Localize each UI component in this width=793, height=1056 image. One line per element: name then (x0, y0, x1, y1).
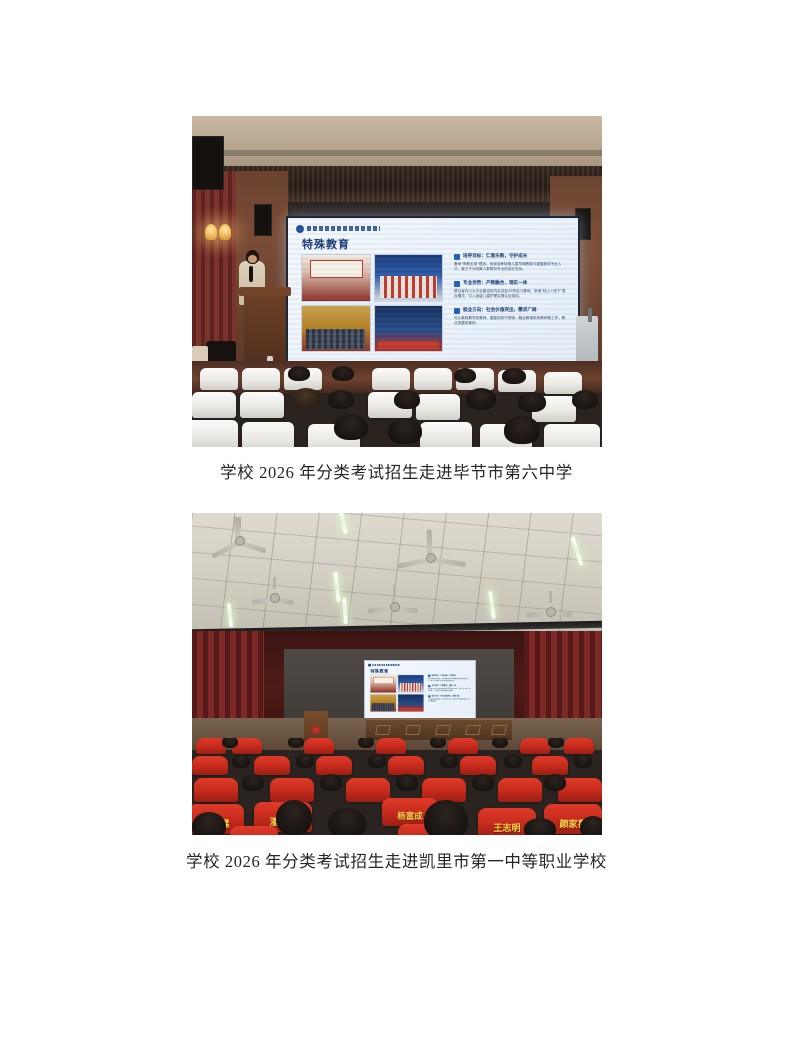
slide-special-education: 特殊教育 培养目标：仁爱乐教，守护成长 秉承" (288, 218, 578, 364)
slide-bullet: 培养目标：仁爱乐教，守护成长 秉承"有教无类"理念，系统培养特殊儿童早期教育与康… (428, 675, 471, 682)
document-page: 特殊教育 培养目标：仁爱乐教，守护成长 秉承" (0, 0, 793, 1056)
school-logo (296, 224, 380, 233)
table-panel (405, 725, 421, 735)
slide-bullet-body: 联合省内六大平台建设校内实训及25所实习基地，采用"线上+线下"混合模式，引入省… (428, 688, 471, 692)
table-panel (435, 725, 451, 735)
audience-head (232, 754, 250, 768)
seat (498, 778, 542, 802)
slide-photo-cell (374, 254, 444, 302)
table-panel (375, 725, 391, 735)
slide-bullet-list: 培养目标：仁爱乐教，守护成长 秉承"有教无类"理念，系统培养特殊儿童早期教育与康… (454, 254, 568, 334)
audience-head (334, 414, 368, 440)
slide-bullet: 专业优势：产教融合，理实一体 联合省内六大平台建设校内实训及25所实习基地，采用… (428, 685, 471, 692)
audience-head (524, 818, 556, 835)
person-icon (428, 695, 430, 697)
photo-kaili-first-vocational-school: 特殊教育 培养目标：仁爱乐教，守护成长 秉承"有教 (192, 513, 602, 835)
slide-bullet-heading-row: 就业方向：社会价值突出，需求广阔 (454, 308, 568, 314)
slide-photo-cell (301, 254, 371, 302)
slide-photo-cell (397, 694, 423, 712)
seat (194, 778, 238, 802)
audience-head (320, 774, 342, 791)
figure-2-caption: 学校 2026 年分类考试招生走进凯里市第一中等职业学校 (0, 848, 793, 872)
seat (242, 368, 280, 390)
microphone-icon (249, 266, 253, 282)
audience-head (504, 416, 540, 444)
seat (254, 756, 290, 775)
presentation-screen: 特殊教育 培养目标：仁爱乐教，守护成长 秉承" (286, 216, 580, 366)
audience-head (466, 388, 496, 410)
seat (564, 738, 594, 754)
slide-photo-cell (301, 305, 371, 353)
ceiling-fan (392, 543, 468, 571)
logo-badge-icon (368, 663, 371, 666)
seat (304, 738, 334, 754)
wall-sconce-left (205, 224, 217, 240)
presenter-face (248, 255, 257, 263)
slide-bullet-body: 秉承"有教无类"理念，系统培养特殊儿童早期教育与康复服务专业人才，致力于为特殊人… (454, 262, 568, 273)
slide-bullet: 就业方向：社会价值突出，需求广阔 可从事特教学校教师、康复机构干预师、融合教育机… (454, 308, 568, 327)
slide-bullet-heading: 培养目标：仁爱乐教，守护成长 (432, 675, 456, 677)
audience-head (276, 800, 312, 835)
logo-wordmark (372, 664, 400, 666)
audience-head (394, 390, 420, 409)
equipment-pole (588, 308, 592, 322)
audience-head (424, 800, 468, 835)
seat (520, 738, 550, 754)
slide-bullet: 就业方向：社会价值突出，需求广阔 可从事特教学校教师、康复机构干预师、融合教育机… (428, 695, 471, 702)
audience-head (332, 366, 354, 381)
fan-rod (549, 591, 552, 603)
audience-head (572, 390, 598, 409)
audience-head (296, 754, 314, 768)
seat (346, 778, 390, 802)
slide-photo-grid (370, 675, 424, 712)
seat (532, 756, 568, 775)
seat (448, 738, 478, 754)
audience-head (504, 754, 522, 768)
figure-1-caption: 学校 2026 年分类考试招生走进毕节市第六中学 (0, 459, 793, 483)
audience-head (454, 368, 476, 383)
audience-head (388, 418, 422, 444)
speaker-center-left (254, 204, 272, 236)
seat (192, 420, 238, 447)
slide-bullet-heading-row: 就业方向：社会价值突出，需求广阔 (428, 695, 471, 697)
audience-head (440, 754, 458, 768)
seat (372, 368, 410, 390)
fan-hub (546, 607, 556, 617)
wall-sconce-right (219, 224, 231, 240)
person-icon (454, 308, 460, 314)
ceiling-fan (526, 601, 574, 621)
fan-hub (270, 593, 280, 603)
audience-head (328, 808, 366, 835)
slide-bullet: 培养目标：仁爱乐教，守护成长 秉承"有教无类"理念，系统培养特殊儿童早期教育与康… (454, 254, 568, 273)
left-curtain (192, 171, 236, 366)
slide-bullet-heading: 就业方向：社会价值突出，需求广阔 (432, 695, 460, 697)
slide-special-education: 特殊教育 培养目标：仁爱乐教，守护成长 秉承"有教 (365, 661, 475, 716)
slide-bullet-heading-row: 培养目标：仁爱乐教，守护成长 (428, 675, 471, 677)
fan-hub (390, 602, 400, 612)
heart-icon (454, 254, 460, 260)
table-panel (491, 725, 507, 735)
podium (244, 293, 286, 361)
photo-beijie-sixth-middle-school: 特殊教育 培养目标：仁爱乐教，守护成长 秉承" (192, 116, 602, 447)
ceiling-fan (252, 587, 296, 607)
seat (420, 422, 472, 447)
ceiling-fan (210, 527, 268, 553)
logo-badge-icon (296, 225, 304, 233)
slide-bullet-body: 可从事特教学校教师、康复机构干预师、融合教育机构教师等工作，职业发展前景好。 (454, 316, 568, 327)
slide-photo-cell (370, 675, 396, 693)
slide-bullet-heading: 培养目标：仁爱乐教，守护成长 (463, 254, 527, 259)
seat (270, 778, 314, 802)
slide-photo-cell (370, 694, 396, 712)
mountain-icon (454, 281, 460, 287)
slide-bullet-heading-row: 专业优势：产教融合，理实一体 (428, 685, 471, 687)
school-logo (368, 663, 400, 666)
seat (242, 422, 294, 447)
seat (200, 368, 238, 390)
slide-photo-cell (374, 305, 444, 353)
slide-bullet: 专业优势：产教融合，理实一体 联合省内六大平台建设校内实训及25所实习基地，采用… (454, 281, 568, 300)
slide-title: 特殊教育 (370, 668, 388, 674)
podium-top (239, 287, 291, 296)
heart-icon (428, 675, 430, 677)
seat (192, 756, 228, 775)
audience-head (328, 390, 354, 409)
slide-bullet-body: 可从事特教学校教师、康复机构干预师、融合教育机构教师等工作，职业发展前景好。 (428, 698, 471, 702)
audience-seating-red: 吴京霖 潘柳竹 杨富成 王志明 颜家喜 杨 任 (192, 738, 602, 835)
audience-head (518, 392, 546, 412)
audience-head (292, 388, 320, 408)
mountain-icon (428, 685, 430, 687)
slide-bullet-heading: 就业方向：社会价值突出，需求广阔 (463, 308, 537, 313)
seat (388, 756, 424, 775)
slide-photo-cell (397, 675, 423, 693)
ceiling-band (192, 150, 602, 156)
seat (544, 424, 600, 447)
audience-head (580, 816, 602, 835)
slide-bullet-heading-row: 专业优势：产教融合，理实一体 (454, 281, 568, 287)
audience-head (574, 754, 592, 768)
slide-bullet-heading: 专业优势：产教融合，理实一体 (432, 685, 456, 687)
audience-head (502, 368, 526, 384)
fan-hub (235, 536, 245, 546)
audience-head (288, 366, 310, 381)
fan-rod (273, 577, 276, 589)
presentation-screen: 特殊教育 培养目标：仁爱乐教，守护成长 秉承"有教 (364, 660, 476, 720)
audience-head (472, 774, 494, 791)
slide-bullet-body: 秉承"有教无类"理念，系统培养特殊儿童早期教育与康复服务专业人才，致力于为特殊人… (428, 678, 471, 682)
audience-head (288, 738, 304, 748)
ceiling-fan (368, 595, 420, 617)
slide-title: 特殊教育 (302, 236, 350, 252)
audience-head (544, 774, 566, 791)
table-panel (465, 725, 481, 735)
audience-head (396, 774, 418, 791)
audience-seating-white (192, 366, 602, 447)
slide-bullet-list: 培养目标：仁爱乐教，守护成长 秉承"有教无类"理念，系统培养特殊儿童早期教育与康… (428, 675, 471, 706)
seat (416, 394, 460, 420)
speaker-left (192, 136, 224, 190)
seat (316, 756, 352, 775)
audience-head (492, 738, 508, 748)
fan-hub (426, 553, 436, 563)
audience-head (368, 754, 386, 768)
audience-head (358, 738, 374, 748)
seat-named: 任 (230, 826, 278, 835)
audience-head (430, 738, 446, 748)
slide-bullet-body: 联合省内六大平台建设校内实训及25所实习基地，采用"线上+线下"混合模式，引入省… (454, 289, 568, 300)
seat (240, 392, 284, 418)
seat (414, 368, 452, 390)
seat (460, 756, 496, 775)
seat (192, 392, 236, 418)
audience-head (242, 774, 264, 791)
slide-bullet-heading-row: 培养目标：仁爱乐教，守护成长 (454, 254, 568, 260)
slide-photo-grid (301, 254, 443, 352)
audience-head (222, 738, 238, 748)
seat (544, 372, 582, 394)
slide-bullet-heading: 专业优势：产教融合，理实一体 (463, 281, 527, 286)
audience-head (192, 812, 226, 835)
stage-table (366, 719, 512, 740)
audience-head (548, 738, 564, 748)
fan-rod (393, 585, 396, 597)
logo-wordmark (307, 226, 380, 231)
seat (376, 738, 406, 754)
